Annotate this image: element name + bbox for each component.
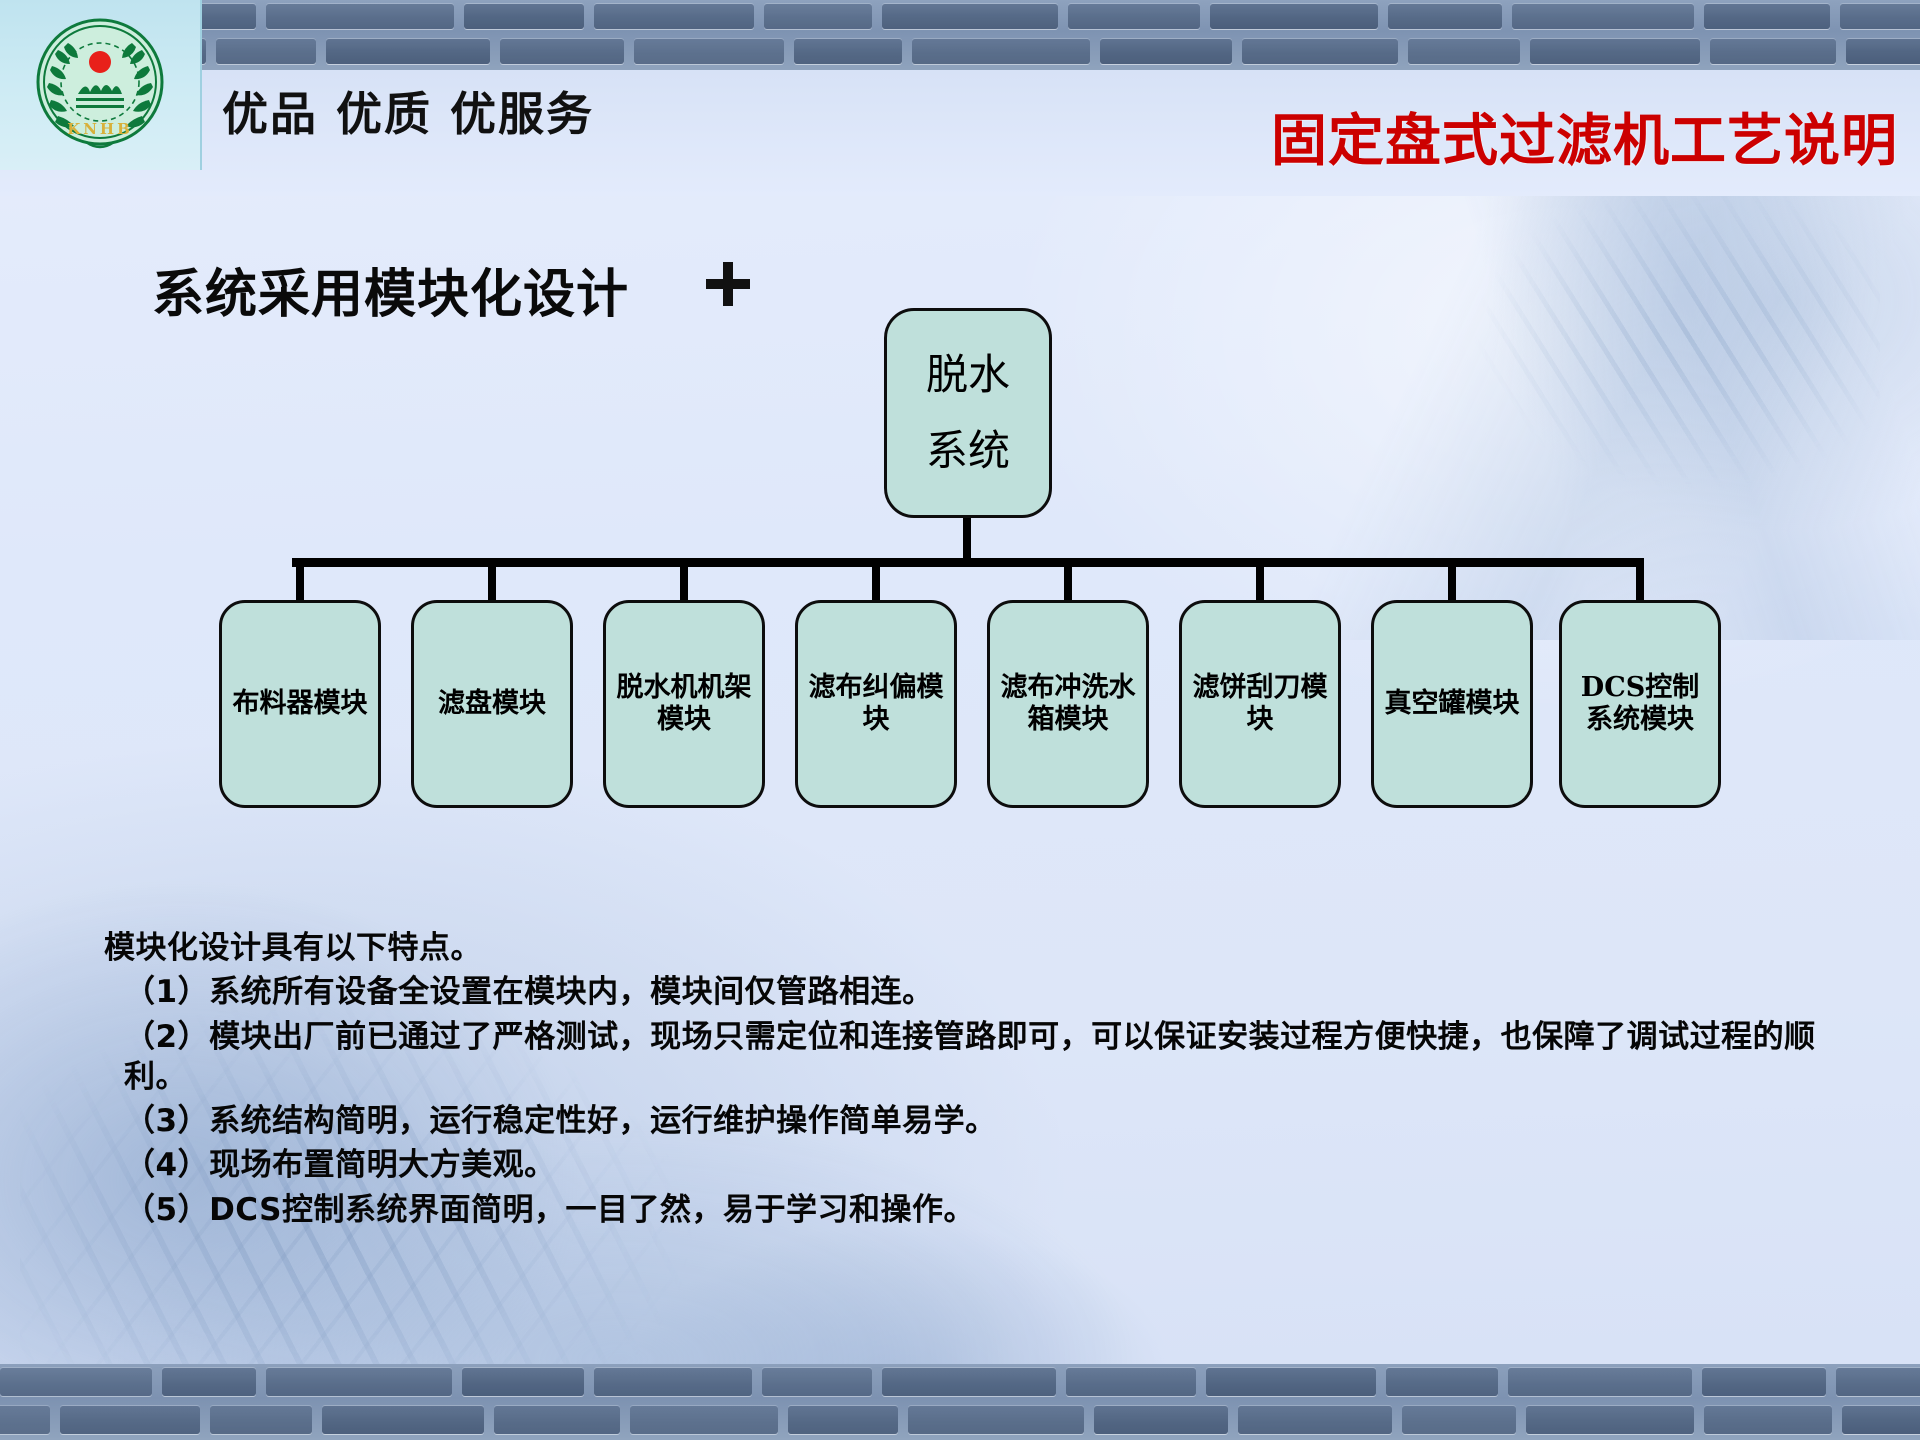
company-slogan: 优品 优质 优服务 [222, 78, 594, 144]
module-node-6[interactable]: 滤饼刮刀模块 [1179, 600, 1341, 808]
connector-root-stem [963, 518, 971, 562]
body-item-5: （5）DCS控制系统界面简明，一目了然，易于学习和操作。 [104, 1190, 1824, 1230]
body-item-1: （1）系统所有设备全设置在模块内，模块间仅管路相连。 [104, 972, 1824, 1012]
module-node-5[interactable]: 滤布冲洗水箱模块 [987, 600, 1149, 808]
body-intro: 模块化设计具有以下特点。 [104, 928, 1824, 968]
module-node-7[interactable]: 真空罐模块 [1371, 600, 1533, 808]
connector-drop-6 [1256, 562, 1264, 604]
page-title: 固定盘式过滤机工艺说明 [1271, 96, 1898, 177]
connector-drop-7 [1448, 562, 1456, 604]
body-item-3: （3）系统结构简明，运行稳定性好，运行维护操作简单易学。 [104, 1101, 1824, 1141]
body-item-2: （2）模块出厂前已通过了严格测试，现场只需定位和连接管路即可，可以保证安装过程方… [104, 1017, 1824, 1098]
module-node-4[interactable]: 滤布纠偏模块 [795, 600, 957, 808]
connector-drop-5 [1064, 562, 1072, 604]
module-node-2[interactable]: 滤盘模块 [411, 600, 573, 808]
bottom-brick-band [0, 1364, 1920, 1440]
plus-marker-icon [706, 262, 750, 306]
connector-drop-1 [296, 562, 304, 604]
root-node-line2: 系统 [926, 430, 1010, 472]
company-logo: KNHB [0, 0, 202, 170]
body-text-block: 模块化设计具有以下特点。 （1）系统所有设备全设置在模块内，模块间仅管路相连。 … [104, 928, 1824, 1234]
connector-drop-3 [680, 562, 688, 604]
module-node-1[interactable]: 布料器模块 [219, 600, 381, 808]
module-node-3[interactable]: 脱水机机架模块 [603, 600, 765, 808]
slide-canvas: KNHB 优品 优质 优服务 固定盘式过滤机工艺说明 系统采用模块化设计 脱水 … [0, 0, 1920, 1440]
diagram-root-node[interactable]: 脱水 系统 [884, 308, 1052, 518]
body-item-4: （4）现场布置简明大方美观。 [104, 1145, 1824, 1185]
connector-drop-4 [872, 562, 880, 604]
connector-drop-8 [1636, 562, 1644, 604]
root-node-line1: 脱水 [926, 354, 1010, 396]
knhb-emblem-icon: KNHB [16, 10, 184, 160]
connector-drop-2 [488, 562, 496, 604]
connector-horizontal-bus [292, 558, 1644, 567]
module-node-8[interactable]: DCS控制系统模块 [1559, 600, 1721, 808]
top-brick-band [0, 0, 1920, 70]
svg-text:KNHB: KNHB [67, 120, 133, 138]
section-heading: 系统采用模块化设计 [152, 252, 629, 327]
